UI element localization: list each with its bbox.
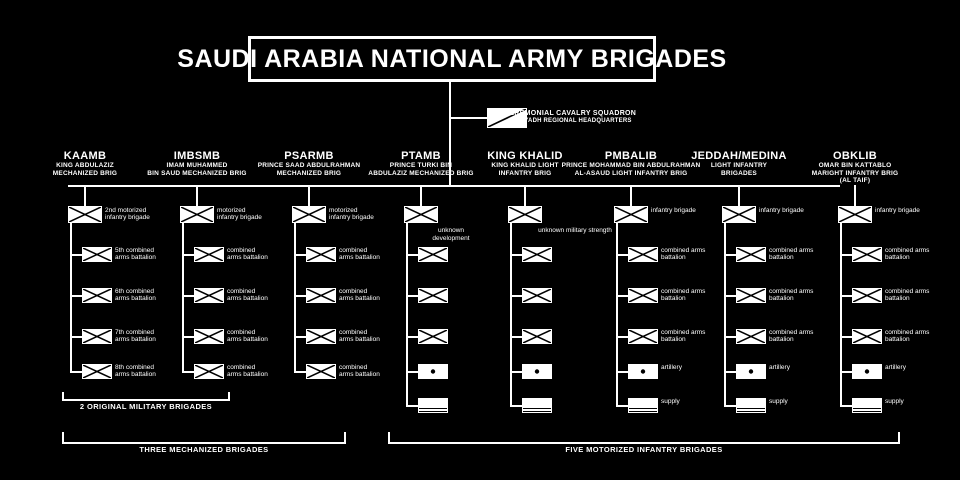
infantry-x-icon [419, 248, 447, 261]
unit-artillery[interactable] [418, 364, 448, 379]
infantry-x-icon [523, 289, 551, 302]
unit-battalion[interactable]: 7th combined arms battalion [82, 329, 112, 344]
chart-title-box: SAUDI ARABIA NATIONAL ARMY BRIGADES [248, 36, 656, 82]
unit-battalion[interactable]: combined arms battalion [628, 247, 658, 262]
infantry-x-icon [723, 207, 755, 222]
unit-battalion[interactable]: 5th combined arms battalion [82, 247, 112, 262]
infantry-x-icon [853, 248, 881, 261]
infantry-x-icon [195, 289, 223, 302]
unit-battalion[interactable]: 6th combined arms battalion [82, 288, 112, 303]
unit-battalion[interactable]: 8th combined arms battalion [82, 364, 112, 379]
unit-connector-line [840, 371, 852, 373]
column-drop-line [630, 185, 632, 206]
unit-symbol-infantry-x [306, 329, 336, 344]
unit-supply[interactable]: supply [852, 398, 882, 413]
bracket-motorized-label: FIVE MOTORIZED INFANTRY BRIGADES [388, 445, 900, 454]
unit-brigade[interactable]: motorized infantry brigade [180, 206, 214, 223]
column-spine-line [182, 223, 184, 371]
unit-brigade[interactable]: infantry brigade [838, 206, 872, 223]
infantry-x-icon [83, 365, 111, 378]
supply-bars-icon [737, 399, 765, 412]
unit-connector-line [294, 254, 306, 256]
unit-symbol-infantry-x [418, 247, 448, 262]
infantry-x-icon [853, 289, 881, 302]
unit-label: combined arms battalion [885, 288, 960, 304]
infantry-x-icon [419, 289, 447, 302]
unit-symbol-infantry-x [194, 288, 224, 303]
unit-label: artillery [885, 364, 960, 372]
unit-connector-line [724, 371, 736, 373]
infantry-x-icon [195, 365, 223, 378]
column-subtitle-line: (AL TAIF) [765, 177, 945, 184]
unit-symbol-infantry-x [68, 206, 102, 223]
unit-battalion[interactable] [418, 288, 448, 303]
unit-battalion[interactable] [522, 329, 552, 344]
infantry-x-icon [181, 207, 213, 222]
column-subtitle-line: OMAR BIN KATTABLO [765, 162, 945, 169]
unit-connector-line [406, 295, 418, 297]
column-spine-line [294, 223, 296, 371]
unit-connector-line [510, 336, 522, 338]
column-spine-line [616, 223, 618, 405]
unit-connector-line [616, 371, 628, 373]
unit-artillery[interactable]: artillery [852, 364, 882, 379]
infantry-x-icon [195, 248, 223, 261]
infantry-x-icon [629, 248, 657, 261]
infantry-x-icon [839, 207, 871, 222]
unit-supply[interactable] [522, 398, 552, 413]
unit-artillery[interactable]: artillery [628, 364, 658, 379]
unit-symbol-infantry-x [508, 206, 542, 223]
column-note: unknown military strength [520, 227, 630, 235]
infantry-x-icon [523, 248, 551, 261]
unit-symbol-supply-bars [522, 398, 552, 413]
cavalry-line-1: CEREMONIAL CAVALRY SQUADRON [504, 110, 724, 118]
unit-symbol-infantry-x [404, 206, 438, 223]
column-note: unknown development [416, 227, 486, 243]
unit-symbol-supply-bars [628, 398, 658, 413]
unit-symbol-infantry-x [852, 329, 882, 344]
column-abbr: OBKLIB [765, 150, 945, 162]
artillery-dot-icon [737, 365, 765, 378]
infantry-x-icon [83, 289, 111, 302]
infantry-x-icon [293, 207, 325, 222]
unit-connector-line [840, 405, 852, 407]
org-chart-canvas: SAUDI ARABIA NATIONAL ARMY BRIGADES CERE… [0, 0, 960, 480]
unit-symbol-infantry-x [736, 288, 766, 303]
unit-symbol-infantry-x [628, 247, 658, 262]
unit-symbol-infantry-x [628, 288, 658, 303]
unit-symbol-artillery-dot [418, 364, 448, 379]
unit-symbol-infantry-x [306, 288, 336, 303]
unit-connector-line [294, 295, 306, 297]
unit-connector-line [70, 254, 82, 256]
unit-connector-line [70, 336, 82, 338]
unit-connector-line [182, 254, 194, 256]
unit-connector-line [724, 254, 736, 256]
unit-battalion[interactable] [418, 247, 448, 262]
unit-brigade[interactable]: infantry brigade [614, 206, 648, 223]
column-drop-line [854, 185, 856, 206]
unit-symbol-infantry-x [852, 247, 882, 262]
infantry-x-icon [523, 330, 551, 343]
unit-symbol-supply-bars [736, 398, 766, 413]
infantry-x-icon [737, 330, 765, 343]
unit-connector-line [406, 371, 418, 373]
unit-connector-line [510, 254, 522, 256]
column-subtitle-line: MARIGHT INFANTRY BRIG [765, 170, 945, 177]
unit-battalion[interactable]: combined arms battalion [194, 288, 224, 303]
unit-symbol-infantry-x [852, 288, 882, 303]
artillery-dot-icon [629, 365, 657, 378]
unit-battalion[interactable]: combined arms battalion [194, 364, 224, 379]
unit-connector-line [294, 371, 306, 373]
unit-symbol-infantry-x [736, 329, 766, 344]
unit-battalion[interactable]: combined arms battalion [736, 247, 766, 262]
infantry-x-icon [69, 207, 101, 222]
supply-bars-icon [629, 399, 657, 412]
unit-connector-line [840, 295, 852, 297]
unit-label: infantry brigade [759, 207, 849, 215]
unit-connector-line [616, 336, 628, 338]
infantry-x-icon [83, 330, 111, 343]
unit-label: infantry brigade [875, 207, 960, 215]
unit-connector-line [182, 295, 194, 297]
artillery-dot-icon [853, 365, 881, 378]
unit-battalion[interactable]: combined arms battalion [306, 288, 336, 303]
infantry-x-icon [419, 330, 447, 343]
unit-symbol-infantry-x [722, 206, 756, 223]
artillery-dot-icon [523, 365, 551, 378]
unit-connector-line [70, 295, 82, 297]
unit-battalion[interactable]: combined arms battalion [628, 288, 658, 303]
unit-symbol-supply-bars [852, 398, 882, 413]
unit-symbol-infantry-x [82, 247, 112, 262]
unit-label: combined arms battalion [885, 247, 960, 263]
unit-symbol-artillery-dot [736, 364, 766, 379]
infantry-x-icon [629, 330, 657, 343]
cavalry-squadron-label: CEREMONIAL CAVALRY SQUADRON RIYADH REGIO… [504, 110, 724, 125]
infantry-x-icon [83, 248, 111, 261]
unit-battalion[interactable]: combined arms battalion [628, 329, 658, 344]
unit-symbol-infantry-x [180, 206, 214, 223]
unit-supply[interactable]: supply [628, 398, 658, 413]
unit-symbol-infantry-x [82, 329, 112, 344]
supply-bars-icon [853, 399, 881, 412]
column-spine-line [724, 223, 726, 405]
unit-battalion[interactable] [418, 329, 448, 344]
unit-symbol-infantry-x [306, 247, 336, 262]
unit-brigade[interactable] [404, 206, 438, 223]
unit-label: supply [885, 398, 960, 406]
bracket-mechanized [62, 432, 346, 444]
unit-battalion[interactable] [522, 247, 552, 262]
column-spine-line [840, 223, 842, 405]
column-drop-line [308, 185, 310, 206]
unit-battalion[interactable]: combined arms battalion [194, 247, 224, 262]
column-drop-line [420, 185, 422, 206]
unit-connector-line [724, 405, 736, 407]
unit-symbol-infantry-x [522, 247, 552, 262]
unit-connector-line [510, 295, 522, 297]
unit-connector-line [70, 371, 82, 373]
main-bus-line [68, 185, 840, 187]
infantry-x-icon [195, 330, 223, 343]
unit-brigade[interactable]: motorized infantry brigade [292, 206, 326, 223]
unit-symbol-infantry-x [82, 364, 112, 379]
page-title: SAUDI ARABIA NATIONAL ARMY BRIGADES [177, 47, 726, 72]
column-drop-line [738, 185, 740, 206]
unit-symbol-infantry-x [736, 247, 766, 262]
unit-symbol-infantry-x [418, 329, 448, 344]
unit-symbol-infantry-x [194, 247, 224, 262]
unit-battalion[interactable]: combined arms battalion [306, 329, 336, 344]
unit-brigade[interactable]: infantry brigade [722, 206, 756, 223]
bracket-mechanized-label: THREE MECHANIZED BRIGADES [62, 445, 346, 454]
unit-symbol-infantry-x [306, 364, 336, 379]
unit-symbol-infantry-x [194, 364, 224, 379]
column-spine-line [70, 223, 72, 371]
unit-artillery[interactable] [522, 364, 552, 379]
infantry-x-icon [307, 289, 335, 302]
unit-symbol-infantry-x [194, 329, 224, 344]
unit-symbol-infantry-x [522, 329, 552, 344]
infantry-x-icon [307, 330, 335, 343]
column-drop-line [196, 185, 198, 206]
infantry-x-icon [615, 207, 647, 222]
unit-symbol-supply-bars [418, 398, 448, 413]
supply-bars-icon [523, 399, 551, 412]
unit-connector-line [724, 295, 736, 297]
bracket-original-label: 2 ORIGINAL MILITARY BRIGADES [62, 402, 230, 411]
cavalry-branch-line [449, 117, 489, 119]
supply-bars-icon [419, 399, 447, 412]
infantry-x-icon [629, 289, 657, 302]
unit-connector-line [616, 295, 628, 297]
unit-symbol-artillery-dot [852, 364, 882, 379]
unit-connector-line [840, 254, 852, 256]
unit-connector-line [616, 405, 628, 407]
unit-connector-line [724, 336, 736, 338]
column-spine-line [406, 223, 408, 405]
infantry-x-icon [509, 207, 541, 222]
unit-symbol-infantry-x [418, 288, 448, 303]
unit-battalion[interactable]: combined arms battalion [306, 364, 336, 379]
bracket-motorized [388, 432, 900, 444]
unit-connector-line [510, 371, 522, 373]
infantry-x-icon [307, 365, 335, 378]
unit-connector-line [840, 336, 852, 338]
unit-connector-line [182, 371, 194, 373]
infantry-x-icon [737, 248, 765, 261]
unit-battalion[interactable]: combined arms battalion [736, 288, 766, 303]
infantry-x-icon [737, 289, 765, 302]
infantry-x-icon [405, 207, 437, 222]
unit-battalion[interactable]: combined arms battalion [194, 329, 224, 344]
unit-symbol-infantry-x [82, 288, 112, 303]
unit-battalion[interactable]: combined arms battalion [736, 329, 766, 344]
unit-brigade[interactable] [508, 206, 542, 223]
unit-symbol-infantry-x [522, 288, 552, 303]
unit-symbol-infantry-x [292, 206, 326, 223]
unit-battalion[interactable]: combined arms battalion [306, 247, 336, 262]
unit-symbol-infantry-x [838, 206, 872, 223]
unit-artillery[interactable]: artillery [736, 364, 766, 379]
unit-brigade[interactable]: 2nd motorized infantry brigade [68, 206, 102, 223]
bracket-original [62, 392, 230, 401]
unit-connector-line [182, 336, 194, 338]
column-drop-line [524, 185, 526, 206]
unit-connector-line [616, 254, 628, 256]
infantry-x-icon [853, 330, 881, 343]
unit-battalion[interactable]: combined arms battalion [852, 288, 882, 303]
unit-symbol-infantry-x [614, 206, 648, 223]
column-drop-line [84, 185, 86, 206]
unit-connector-line [294, 336, 306, 338]
unit-symbol-artillery-dot [522, 364, 552, 379]
cavalry-line-2: RIYADH REGIONAL HEADQUARTERS [504, 118, 724, 125]
unit-symbol-infantry-x [628, 329, 658, 344]
unit-connector-line [406, 336, 418, 338]
unit-battalion[interactable]: combined arms battalion [852, 247, 882, 262]
column-header-obklib[interactable]: OBKLIBOMAR BIN KATTABLOMARIGHT INFANTRY … [765, 150, 945, 184]
unit-label: combined arms battalion [885, 329, 960, 345]
artillery-dot-icon [419, 365, 447, 378]
unit-battalion[interactable] [522, 288, 552, 303]
unit-supply[interactable]: supply [736, 398, 766, 413]
infantry-x-icon [307, 248, 335, 261]
unit-connector-line [406, 254, 418, 256]
unit-battalion[interactable]: combined arms battalion [852, 329, 882, 344]
unit-supply[interactable] [418, 398, 448, 413]
unit-symbol-artillery-dot [628, 364, 658, 379]
column-spine-line [510, 223, 512, 405]
unit-connector-line [510, 405, 522, 407]
unit-connector-line [406, 405, 418, 407]
